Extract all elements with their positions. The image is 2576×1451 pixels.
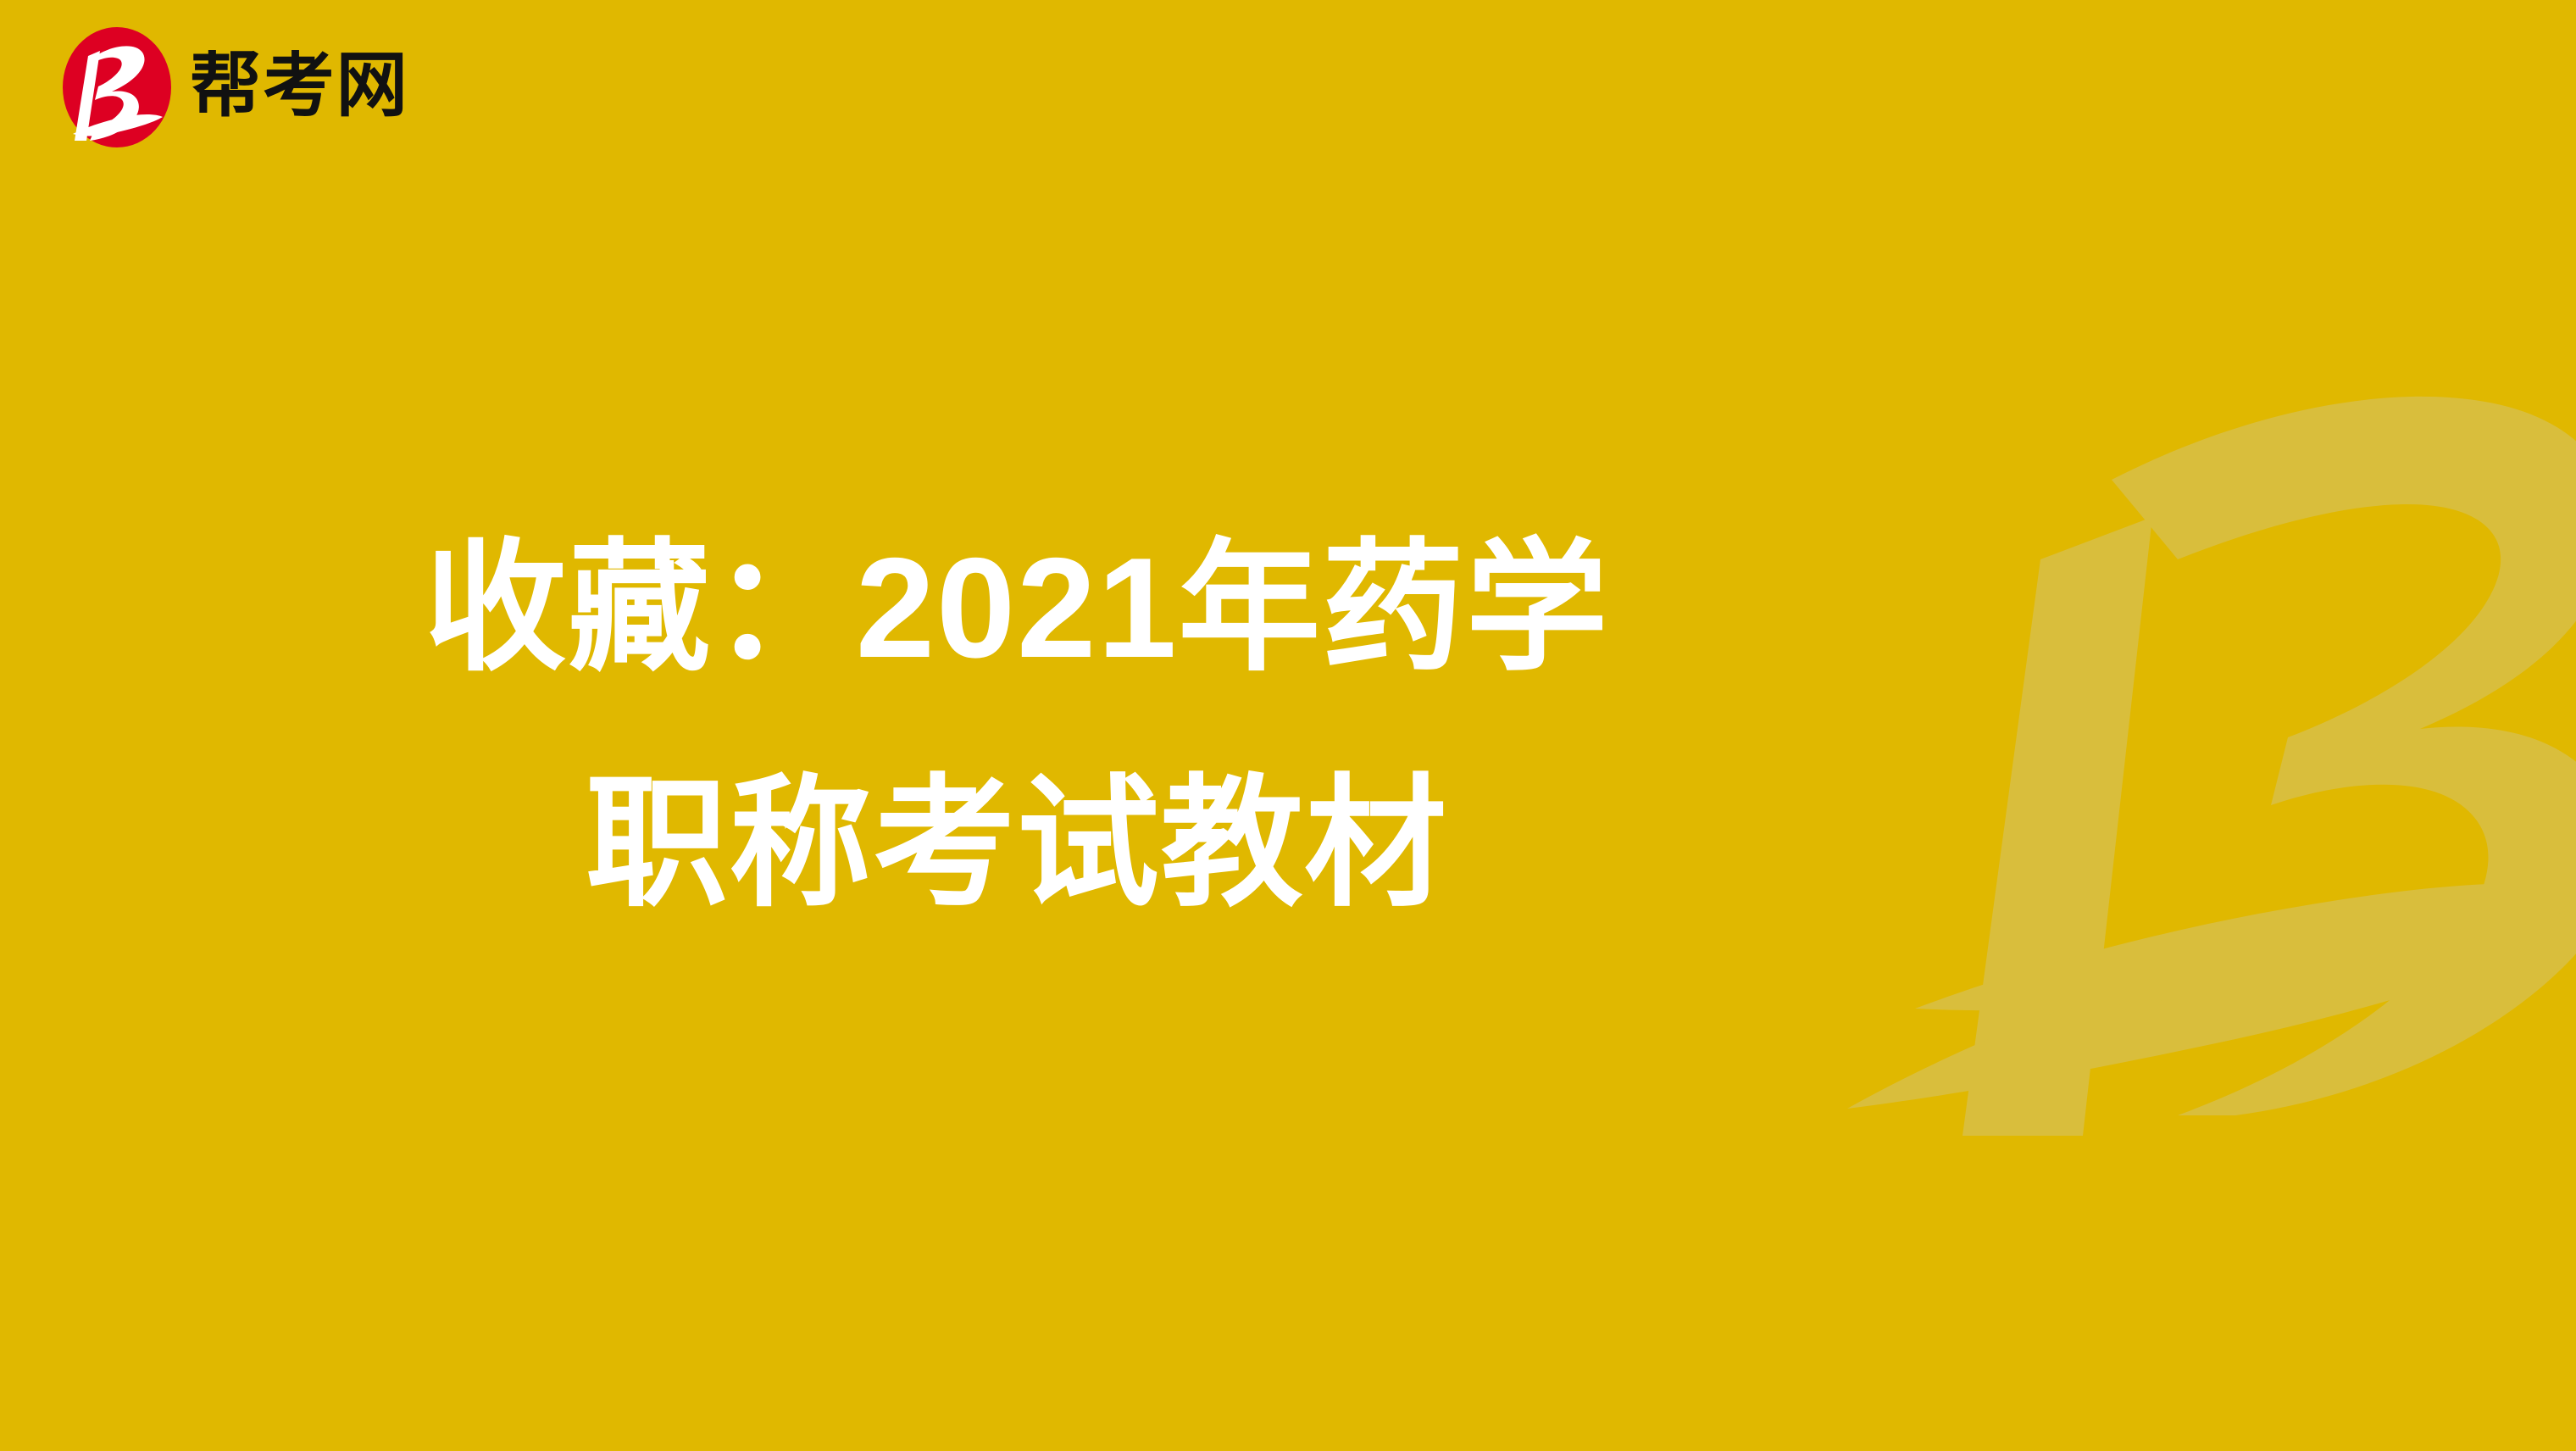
bangkao-b-mark-icon <box>61 25 173 149</box>
headline: 收藏：2021年药学 职称考试教材 <box>0 0 2034 1451</box>
headline-line-1: 收藏：2021年药学 <box>425 536 1610 679</box>
promo-banner: 帮考网 收藏：2021年药学 职称考试教材 <box>0 0 2576 1451</box>
site-logo[interactable]: 帮考网 <box>61 24 436 151</box>
svg-text:帮考网: 帮考网 <box>190 50 409 125</box>
headline-line-2: 职称考试教材 <box>586 772 1448 915</box>
site-logo-wordmark: 帮考网 <box>190 50 436 125</box>
